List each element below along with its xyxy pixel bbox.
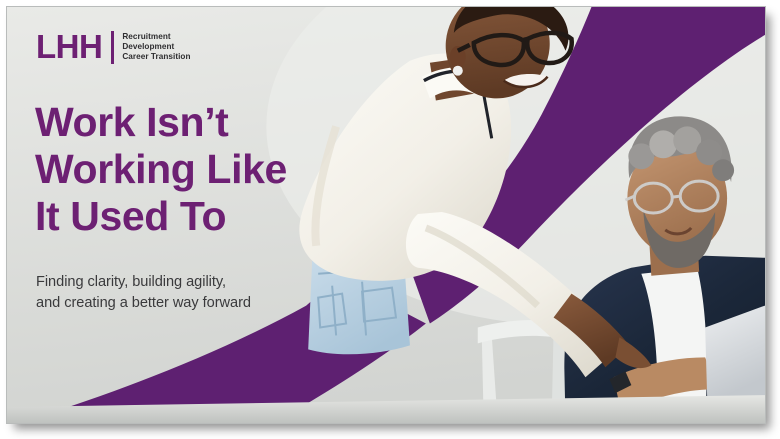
slide-frame: LHH Recruitment Development Career Trans… xyxy=(6,6,766,424)
logo-tagline: Recruitment Development Career Transitio… xyxy=(122,30,190,63)
headline-line-1: Work Isn’t xyxy=(35,99,287,146)
lhh-logo: LHH Recruitment Development Career Trans… xyxy=(36,30,191,64)
subtitle-line-1: Finding clarity, building agility, xyxy=(36,272,251,293)
logo-tagline-line-3: Career Transition xyxy=(122,52,190,62)
headline-line-3: It Used To xyxy=(35,193,287,240)
subtitle-line-2: and creating a better way forward xyxy=(36,293,251,314)
headline-line-2: Working Like xyxy=(35,146,287,193)
page-subtitle: Finding clarity, building agility, and c… xyxy=(36,272,251,313)
logo-tagline-line-1: Recruitment xyxy=(122,32,190,42)
logo-divider-rule xyxy=(111,31,114,64)
page-title: Work Isn’t Working Like It Used To xyxy=(35,99,287,240)
logo-tagline-line-2: Development xyxy=(122,42,190,52)
logo-wordmark: LHH xyxy=(36,30,102,63)
